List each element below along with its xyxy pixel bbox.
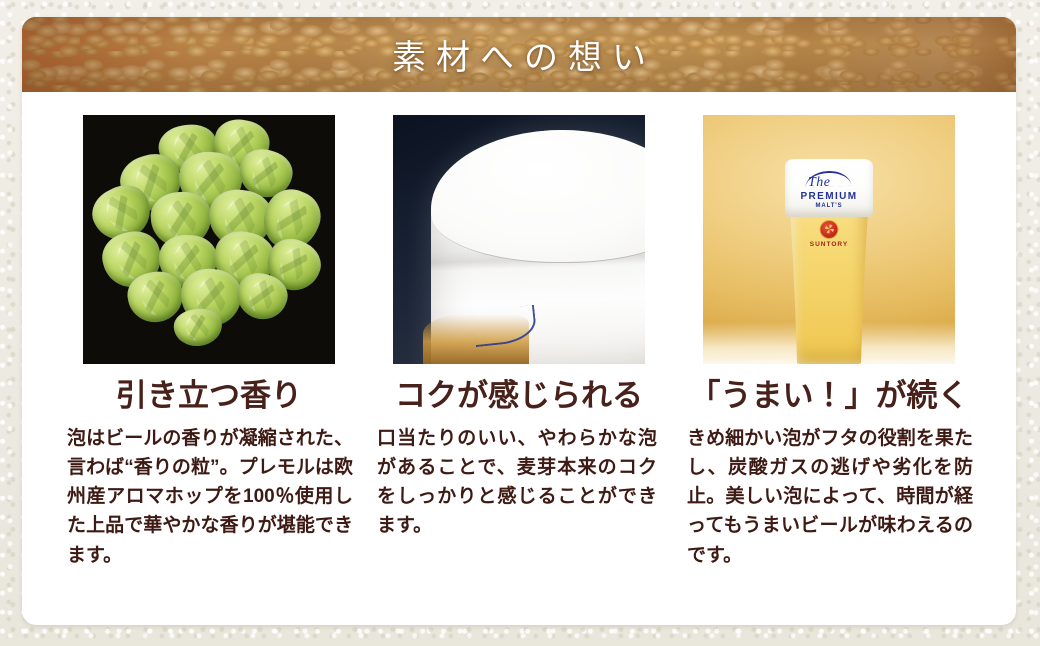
foam-head: The PREMIUM MALT'S SUNTORY	[785, 159, 873, 217]
logo-suntory-text: SUNTORY	[785, 241, 873, 248]
feature-column-aroma: 引き立つ香り 泡はビールの香りが凝縮された、言わば“香りの粒”。プレモルは欧州産…	[63, 115, 355, 570]
logo-malts-text: MALT'S	[785, 203, 873, 209]
logo-premium-text: PREMIUM	[785, 191, 873, 202]
feature-column-lasting-taste: The PREMIUM MALT'S SUNTORY 「うまい！」が続く きめ細…	[683, 115, 975, 570]
suntory-emblem-icon	[821, 221, 838, 238]
column-body-text: 口当たりのいい、やわらかな泡があることで、麦芽本来のコクをしっかりと感じることが…	[373, 424, 665, 541]
beer-foam-closeup-photo	[393, 115, 645, 364]
foam-rim	[431, 130, 645, 263]
hops-in-hands-photo	[83, 115, 335, 364]
content-card: 素材への想い 引き	[22, 17, 1016, 625]
feature-columns: 引き立つ香り 泡はビールの香りが凝縮された、言わば“香りの粒”。プレモルは欧州産…	[22, 92, 1016, 570]
page-title: 素材への想い	[22, 17, 1016, 92]
column-heading: 引き立つ香り	[63, 378, 355, 415]
column-heading: コクが感じられる	[373, 378, 665, 415]
column-body-text: きめ細かい泡がフタの役割を果たし、炭酸ガスの逃げや劣化を防止。美しい泡によって、…	[683, 424, 975, 570]
premium-malts-glass-photo: The PREMIUM MALT'S SUNTORY	[703, 115, 955, 364]
feature-column-body-richness: コクが感じられる 口当たりのいい、やわらかな泡があることで、麦芽本来のコクをしっ…	[373, 115, 665, 570]
column-heading: 「うまい！」が続く	[683, 378, 975, 415]
column-body-text: 泡はビールの香りが凝縮された、言わば“香りの粒”。プレモルは欧州産アロマホップを…	[63, 424, 355, 570]
section-header-band: 素材への想い	[22, 17, 1016, 92]
logo-the-text: The	[808, 175, 831, 191]
